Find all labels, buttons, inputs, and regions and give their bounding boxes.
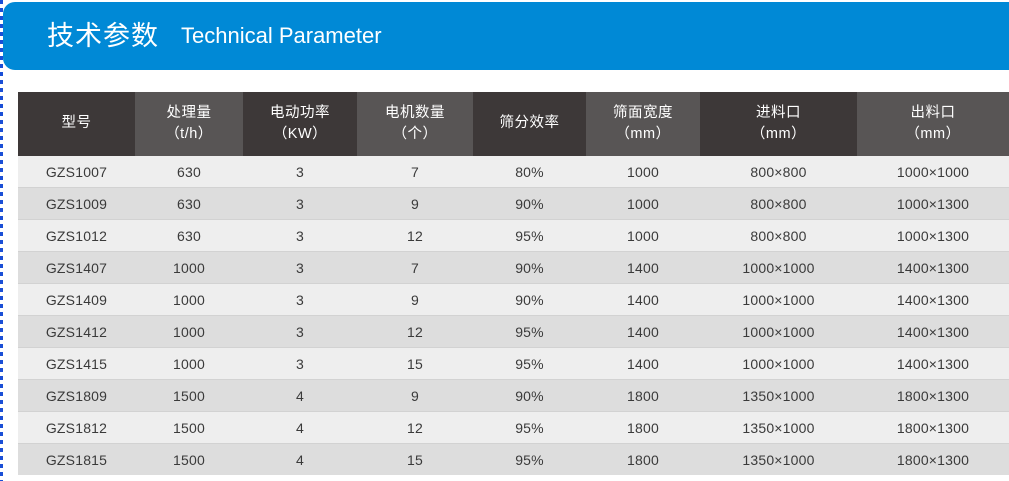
table-cell: 1400×1300 [857,316,1009,348]
table-cell: 1000 [135,252,243,284]
table-cell-model: GZS1809 [18,380,135,412]
table-cell: 1000 [586,220,700,252]
banner-title-chinese: 技术参数 [47,23,159,50]
header-label-unit: （KW） [243,124,357,145]
table-cell: 9 [357,380,473,412]
table-cell-model: GZS1812 [18,412,135,444]
table-cell: 1800×1300 [857,412,1009,444]
header-label-primary: 型号 [18,113,135,134]
table-cell: 1000×1000 [700,348,857,380]
table-cell: 90% [473,284,586,316]
technical-parameter-table-container: 型号处理量（t/h）电动功率（KW）电机数量（个）筛分效率筛面宽度（mm）进料口… [18,92,1009,475]
table-cell: 3 [243,188,357,220]
table-cell: 80% [473,156,586,188]
table-cell: 3 [243,348,357,380]
table-header-cell-5: 筛面宽度（mm） [586,92,700,156]
table-header: 型号处理量（t/h）电动功率（KW）电机数量（个）筛分效率筛面宽度（mm）进料口… [18,92,1009,156]
table-cell: 95% [473,412,586,444]
header-label-unit: （mm） [586,124,700,145]
table-cell: 1000×1000 [700,316,857,348]
table-cell: 95% [473,444,586,476]
table-cell: 3 [243,220,357,252]
table-row: GZS1815150041595%18001350×10001800×1300 [18,444,1009,476]
table-cell: 9 [357,284,473,316]
header-label-primary: 电机数量 [357,103,473,124]
table-cell: 1800×1300 [857,380,1009,412]
table-cell: 1500 [135,412,243,444]
table-cell: 1800 [586,444,700,476]
table-cell: 800×800 [700,188,857,220]
table-header-cell-4: 筛分效率 [473,92,586,156]
table-cell: 1800 [586,412,700,444]
table-cell: 1000×1000 [700,252,857,284]
table-cell: 1000 [135,316,243,348]
table-cell: 1000×1300 [857,188,1009,220]
table-cell: 9 [357,188,473,220]
table-header-row: 型号处理量（t/h）电动功率（KW）电机数量（个）筛分效率筛面宽度（mm）进料口… [18,92,1009,156]
table-cell: 15 [357,348,473,380]
table-cell: 3 [243,284,357,316]
table-cell: 95% [473,316,586,348]
table-cell: 7 [357,156,473,188]
header-label-primary: 处理量 [135,103,243,124]
table-header-cell-0: 型号 [18,92,135,156]
table-cell: 90% [473,188,586,220]
table-cell-model: GZS1007 [18,156,135,188]
table-cell: 1400×1300 [857,252,1009,284]
section-banner: 技术参数 Technical Parameter [3,2,1009,70]
table-cell: 95% [473,220,586,252]
table-cell: 12 [357,316,473,348]
table-cell: 1400 [586,284,700,316]
table-cell: 1800 [586,380,700,412]
header-label-primary: 进料口 [700,103,857,124]
table-cell: 3 [243,156,357,188]
table-body: GZS10076303780%1000800×8001000×1000GZS10… [18,156,1009,475]
header-label-primary: 电动功率 [243,103,357,124]
header-label-primary: 出料口 [857,103,1009,124]
table-cell: 1350×1000 [700,444,857,476]
table-cell: 630 [135,156,243,188]
table-cell: 7 [357,252,473,284]
table-header-cell-1: 处理量（t/h） [135,92,243,156]
header-label-unit: （mm） [700,124,857,145]
table-row: GZS140710003790%14001000×10001400×1300 [18,252,1009,284]
table-cell-model: GZS1815 [18,444,135,476]
table-cell: 12 [357,412,473,444]
table-cell-model: GZS1407 [18,252,135,284]
table-cell: 1400×1300 [857,284,1009,316]
table-cell: 1350×1000 [700,380,857,412]
table-header-cell-7: 出料口（mm） [857,92,1009,156]
table-cell: 1400 [586,252,700,284]
table-cell: 1000 [586,188,700,220]
table-row: GZS10076303780%1000800×8001000×1000 [18,156,1009,188]
table-cell-model: GZS1409 [18,284,135,316]
banner-title-english: Technical Parameter [181,25,382,47]
table-cell: 1000 [135,284,243,316]
table-header-cell-3: 电机数量（个） [357,92,473,156]
table-cell: 90% [473,252,586,284]
table-cell: 800×800 [700,156,857,188]
technical-parameter-table: 型号处理量（t/h）电动功率（KW）电机数量（个）筛分效率筛面宽度（mm）进料口… [18,92,1009,475]
header-label-primary: 筛分效率 [473,113,586,134]
table-row: GZS101263031295%1000800×8001000×1300 [18,220,1009,252]
table-cell: 1400 [586,316,700,348]
table-cell: 3 [243,316,357,348]
left-edge-artifact [0,0,3,481]
table-cell-model: GZS1012 [18,220,135,252]
table-cell: 800×800 [700,220,857,252]
table-cell-model: GZS1009 [18,188,135,220]
table-cell: 4 [243,444,357,476]
table-header-cell-6: 进料口（mm） [700,92,857,156]
table-header-cell-2: 电动功率（KW） [243,92,357,156]
table-cell: 90% [473,380,586,412]
table-cell: 1350×1000 [700,412,857,444]
table-cell: 630 [135,220,243,252]
table-cell: 12 [357,220,473,252]
table-row: GZS180915004990%18001350×10001800×1300 [18,380,1009,412]
table-cell: 1000×1300 [857,220,1009,252]
table-cell: 15 [357,444,473,476]
table-cell: 1000×1000 [857,156,1009,188]
table-cell: 1500 [135,380,243,412]
header-label-unit: （个） [357,124,473,145]
table-cell-model: GZS1415 [18,348,135,380]
table-row: GZS1415100031595%14001000×10001400×1300 [18,348,1009,380]
table-cell: 630 [135,188,243,220]
table-cell-model: GZS1412 [18,316,135,348]
header-label-unit: （t/h） [135,124,243,145]
table-cell: 3 [243,252,357,284]
table-cell: 1000 [135,348,243,380]
table-cell: 1000×1000 [700,284,857,316]
table-cell: 4 [243,380,357,412]
table-row: GZS140910003990%14001000×10001400×1300 [18,284,1009,316]
table-cell: 95% [473,348,586,380]
table-cell: 1400×1300 [857,348,1009,380]
table-cell: 1800×1300 [857,444,1009,476]
header-label-primary: 筛面宽度 [586,103,700,124]
table-cell: 1000 [586,156,700,188]
table-cell: 4 [243,412,357,444]
header-label-unit: （mm） [857,124,1009,145]
table-row: GZS1412100031295%14001000×10001400×1300 [18,316,1009,348]
table-row: GZS10096303990%1000800×8001000×1300 [18,188,1009,220]
table-cell: 1500 [135,444,243,476]
table-row: GZS1812150041295%18001350×10001800×1300 [18,412,1009,444]
table-cell: 1400 [586,348,700,380]
